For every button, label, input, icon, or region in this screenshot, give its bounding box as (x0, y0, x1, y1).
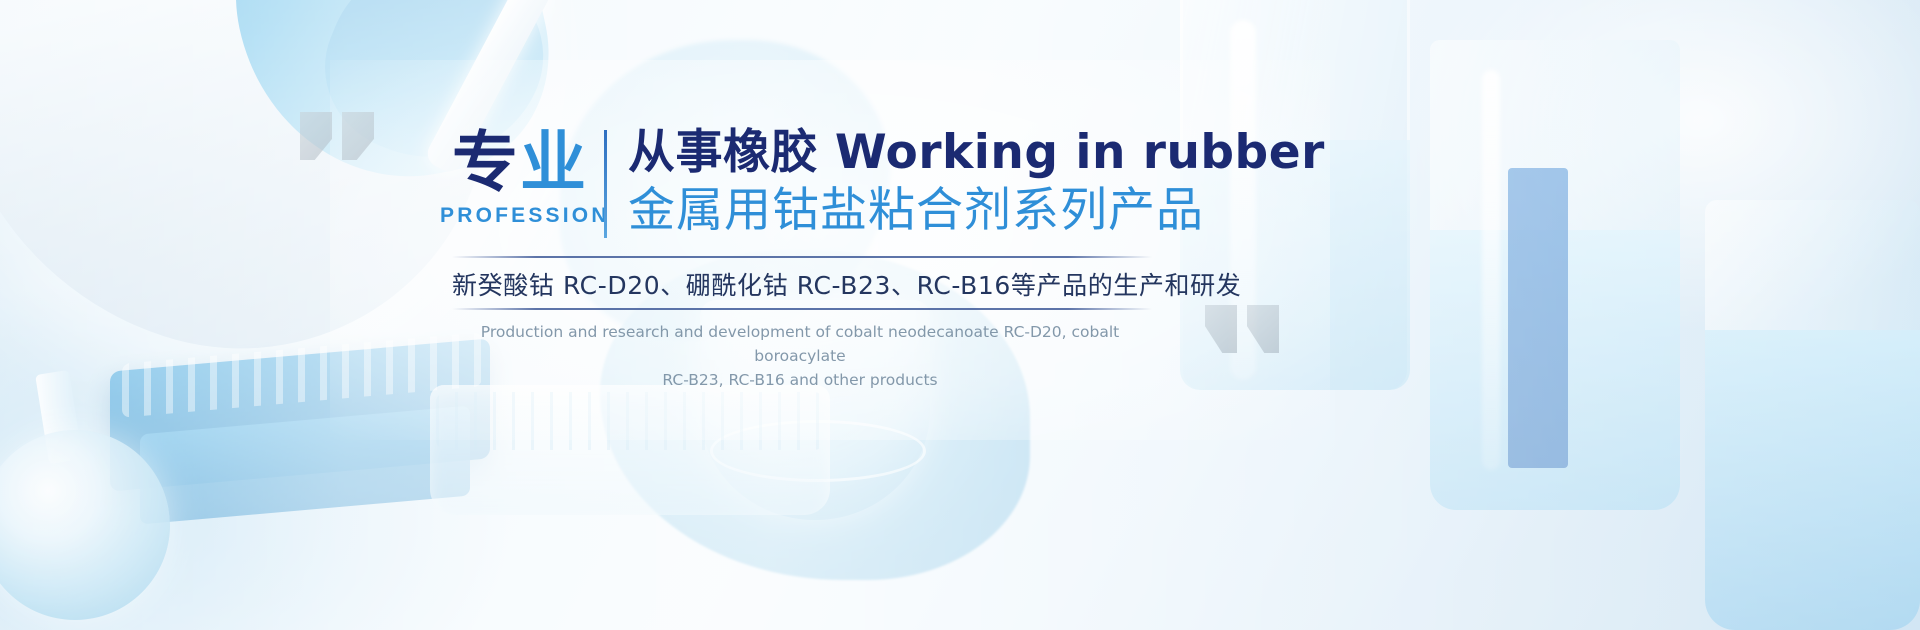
profession-logo-chinese: 专业 (440, 128, 600, 198)
subtitle-english-line1: Production and research and development … (440, 320, 1160, 368)
close-quote-mark-left (1205, 305, 1237, 353)
subtitle-chinese: 新癸酸钴 RC-D20、硼酰化钴 RC-B23、RC-B16等产品的生产和研发 (452, 264, 1152, 308)
headline-primary: 从事橡胶 Working in rubber (628, 124, 1325, 182)
subtitle-rule-bottom (452, 308, 1152, 310)
close-quote-mark-right (1247, 305, 1279, 353)
open-quote-icon (300, 112, 374, 160)
vertical-divider (604, 130, 607, 238)
banner-content: 专业 PROFESSION 从事橡胶 Working in rubber 金属用… (0, 0, 1920, 630)
hero-banner: 专业 PROFESSION 从事橡胶 Working in rubber 金属用… (0, 0, 1920, 630)
subtitle-english: Production and research and development … (440, 320, 1160, 392)
open-quote-mark-right (342, 112, 374, 160)
profession-logo: 专业 PROFESSION (440, 128, 600, 228)
logo-char-first: 专 (452, 124, 520, 201)
subtitle-rule-top (452, 256, 1152, 258)
subtitle-english-line2: RC-B23, RC-B16 and other products (440, 368, 1160, 392)
headline-secondary: 金属用钴盐粘合剂系列产品 (628, 182, 1325, 240)
logo-char-second: 业 (520, 124, 588, 201)
headline-group: 从事橡胶 Working in rubber 金属用钴盐粘合剂系列产品 (628, 124, 1325, 240)
open-quote-mark-left (300, 112, 332, 160)
close-quote-icon (1205, 305, 1279, 353)
profession-logo-english: PROFESSION (440, 204, 600, 228)
